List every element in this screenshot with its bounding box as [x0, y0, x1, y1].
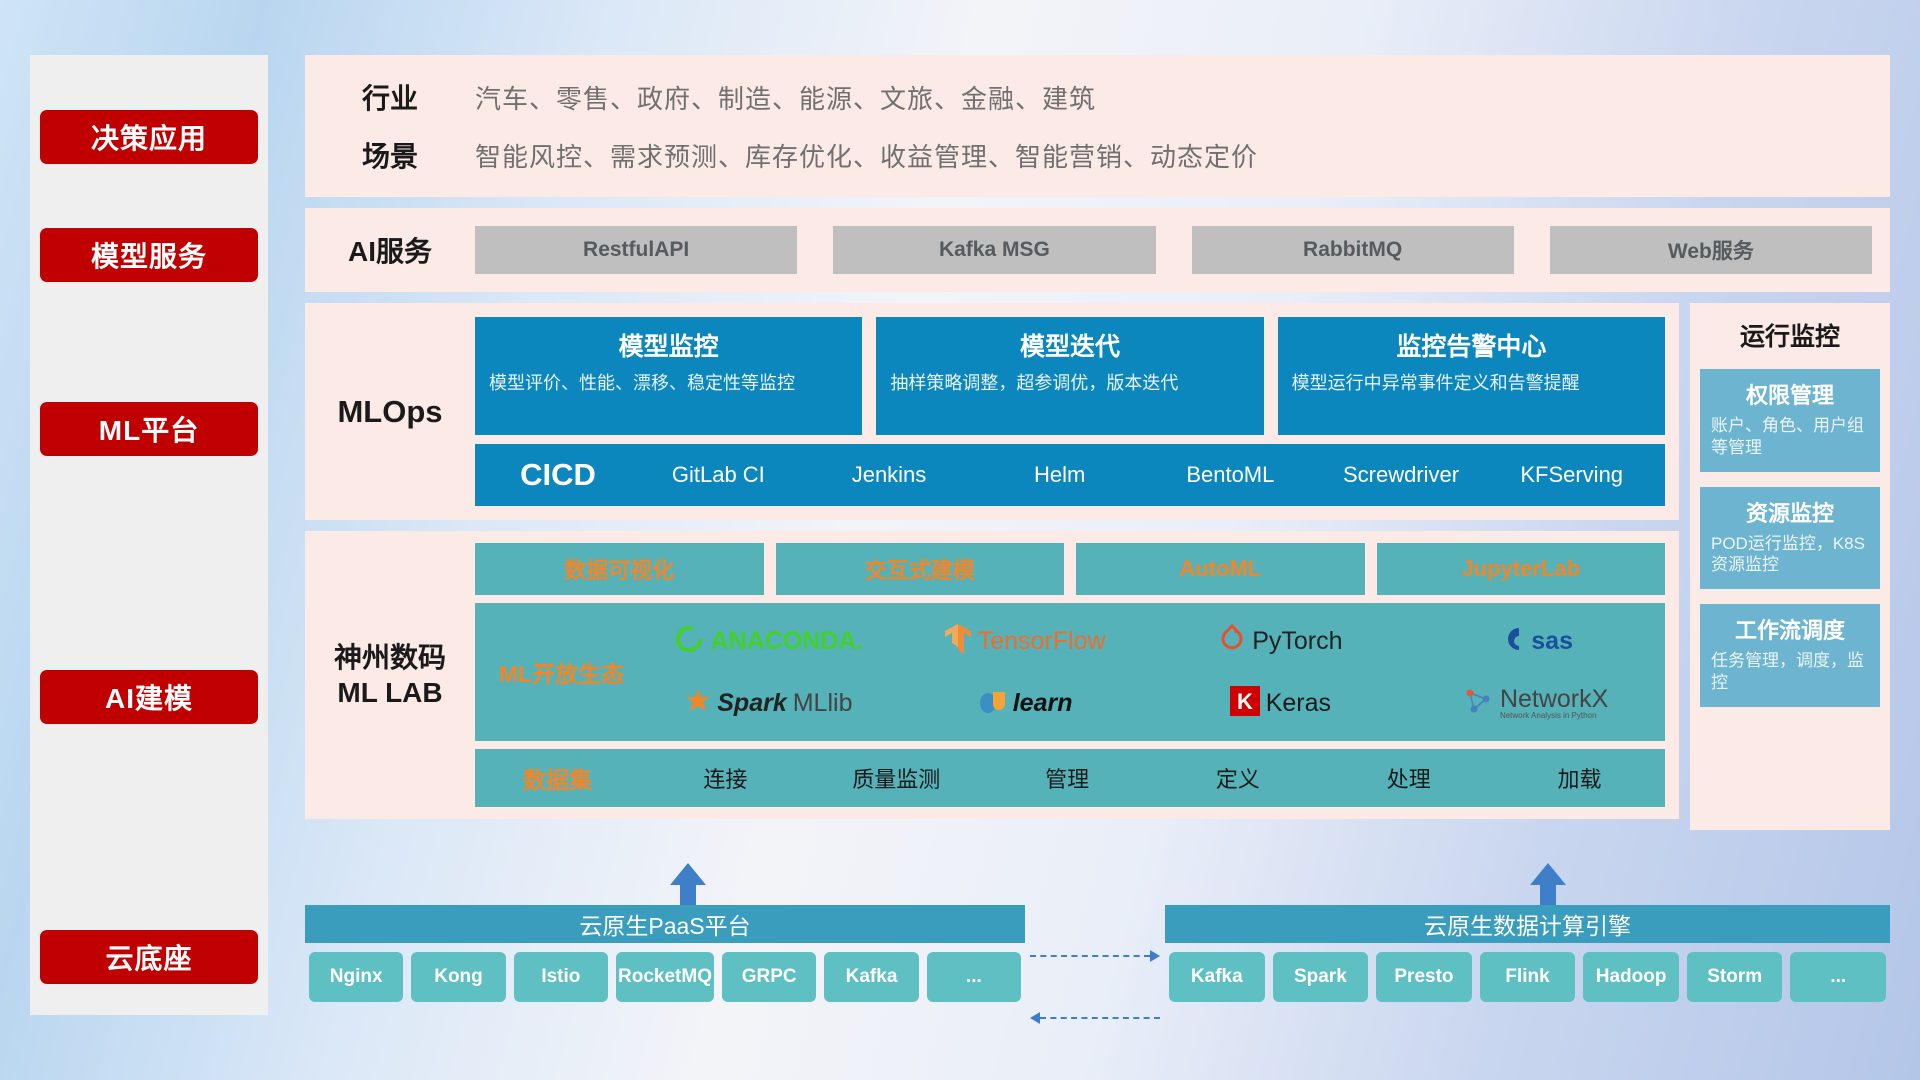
cicd-item-helm[interactable]: Helm — [974, 463, 1145, 486]
cicd-item-gitlab-ci[interactable]: GitLab CI — [633, 463, 804, 486]
arrow-up-engine — [1530, 863, 1566, 885]
data-engine-section: 云原生数据计算引擎 Kafka Spark Presto Flink Hadoo… — [1165, 905, 1890, 1002]
logo-anaconda: ANACONDA. — [644, 611, 894, 671]
logo-text: Keras — [1266, 689, 1331, 718]
logo-keras: K Keras — [1156, 673, 1406, 733]
scenario-label: 场景 — [305, 135, 475, 175]
dataset-item-connect[interactable]: 连接 — [640, 762, 811, 794]
spark-word: Spark — [717, 689, 786, 718]
engine-chips: Kafka Spark Presto Flink Hadoop Storm ..… — [1165, 943, 1890, 1002]
lab-tool-jupyterlab[interactable]: JupyterLab — [1377, 543, 1666, 595]
card-title: 监控告警中心 — [1292, 327, 1651, 363]
logo-text: NetworkX — [1500, 687, 1608, 712]
logo-spark-mllib: Spark MLlib — [644, 673, 894, 733]
lab-tool-data-visualization[interactable]: 数据可视化 — [475, 543, 764, 595]
logo-tensorflow: TensorFlow — [900, 611, 1150, 671]
card-title: 模型监控 — [489, 327, 848, 363]
cicd-item-screwdriver[interactable]: Screwdriver — [1316, 463, 1487, 486]
arrow-left — [1030, 1007, 1160, 1029]
scikit-learn-icon — [977, 686, 1007, 721]
dataset-item-load[interactable]: 加载 — [1494, 762, 1665, 794]
platform-split: MLOps 模型监控 模型评价、性能、漂移、稳定性等监控 模型迭代 抽样策略调整… — [305, 303, 1890, 830]
card-desc: 任务管理，调度，监控 — [1711, 650, 1869, 694]
ml-ecosystem-logos: ANACONDA. TensorFlow — [644, 611, 1661, 733]
service-button-web[interactable]: Web服务 — [1550, 226, 1872, 274]
paas-title: 云原生PaaS平台 — [305, 905, 1025, 943]
chip-istio[interactable]: Istio — [514, 952, 608, 1002]
mlops-card-alert-center[interactable]: 监控告警中心 模型运行中异常事件定义和告警提醒 — [1278, 317, 1665, 435]
platform-left: MLOps 模型监控 模型评价、性能、漂移、稳定性等监控 模型迭代 抽样策略调整… — [305, 303, 1679, 830]
monitor-column: 运行监控 权限管理 账户、角色、用户组等管理 资源监控 POD运行监控，K8S资… — [1690, 303, 1890, 830]
card-desc: 模型运行中异常事件定义和告警提醒 — [1292, 371, 1651, 395]
dataset-item-define[interactable]: 定义 — [1152, 762, 1323, 794]
cicd-item-bentoml[interactable]: BentoML — [1145, 463, 1316, 486]
ml-lab-content: 数据可视化 交互式建模 AutoML JupyterLab ML开放生态 — [475, 543, 1679, 807]
chip-more[interactable]: ... — [927, 952, 1021, 1002]
rail-item-cloud-base[interactable]: 云底座 — [40, 930, 258, 984]
chip-storm[interactable]: Storm — [1687, 952, 1783, 1002]
logo-scikit-learn: learn — [900, 673, 1150, 733]
cicd-item-jenkins[interactable]: Jenkins — [804, 463, 975, 486]
dataset-label: 数据集 — [475, 761, 640, 795]
sas-icon — [1499, 625, 1525, 658]
rail-item-label: 云底座 — [105, 937, 192, 977]
chip-flink[interactable]: Flink — [1480, 952, 1576, 1002]
chip-nginx[interactable]: Nginx — [309, 952, 403, 1002]
card-title: 工作流调度 — [1711, 613, 1869, 645]
chip-kafka[interactable]: Kafka — [824, 952, 918, 1002]
ai-service-buttons: RestfulAPI Kafka MSG RabbitMQ Web服务 — [475, 226, 1890, 274]
mlops-content: 模型监控 模型评价、性能、漂移、稳定性等监控 模型迭代 抽样策略调整，超参调优，… — [475, 317, 1679, 506]
chip-hadoop[interactable]: Hadoop — [1583, 952, 1679, 1002]
industry-row: 行业 汽车、零售、政府、制造、能源、文旅、金融、建筑 — [305, 77, 1890, 117]
ml-ecosystem-row: ML开放生态 ANACONDA. — [475, 603, 1665, 741]
card-desc: 抽样策略调整，超参调优，版本迭代 — [890, 371, 1249, 395]
card-desc: 模型评价、性能、漂移、稳定性等监控 — [489, 371, 848, 395]
lab-tool-automl[interactable]: AutoML — [1076, 543, 1365, 595]
lab-tool-interactive-modeling[interactable]: 交互式建模 — [776, 543, 1065, 595]
logo-pytorch: PyTorch — [1156, 611, 1406, 671]
industry-label: 行业 — [305, 77, 475, 117]
chip-kong[interactable]: Kong — [411, 952, 505, 1002]
dataset-item-quality[interactable]: 质量监测 — [811, 762, 982, 794]
engine-title: 云原生数据计算引擎 — [1165, 905, 1890, 943]
rail-item-label: AI建模 — [105, 677, 193, 717]
ml-lab-label-line1: 神州数码 — [305, 640, 475, 675]
service-button-rabbitmq[interactable]: RabbitMQ — [1192, 226, 1514, 274]
spark-icon — [685, 688, 711, 719]
mlops-card-row: 模型监控 模型评价、性能、漂移、稳定性等监控 模型迭代 抽样策略调整，超参调优，… — [475, 317, 1665, 435]
logo-sas: sas — [1411, 611, 1661, 671]
card-desc: POD运行监控，K8S资源监控 — [1711, 533, 1869, 577]
main-stack: 行业 汽车、零售、政府、制造、能源、文旅、金融、建筑 场景 智能风控、需求预测、… — [305, 55, 1890, 830]
chip-more[interactable]: ... — [1790, 952, 1886, 1002]
dataset-items: 连接 质量监测 管理 定义 处理 加载 — [640, 762, 1665, 794]
application-band: 行业 汽车、零售、政府、制造、能源、文旅、金融、建筑 场景 智能风控、需求预测、… — [305, 55, 1890, 197]
svg-text:K: K — [1237, 689, 1253, 714]
networkx-subtitle: Network Analysis in Python — [1500, 712, 1608, 720]
ai-service-band: AI服务 RestfulAPI Kafka MSG RabbitMQ Web服务 — [305, 208, 1890, 292]
card-title: 资源监控 — [1711, 496, 1869, 528]
paas-chips: Nginx Kong Istio RocketMQ GRPC Kafka ... — [305, 943, 1025, 1002]
monitor-card-permission[interactable]: 权限管理 账户、角色、用户组等管理 — [1700, 369, 1880, 472]
anaconda-icon — [674, 624, 704, 659]
card-desc: 账户、角色、用户组等管理 — [1711, 415, 1869, 459]
cicd-title: CICD — [483, 457, 633, 493]
ml-ecosystem-label: ML开放生态 — [479, 655, 644, 689]
left-rail: 决策应用 模型服务 ML平台 AI建模 云底座 — [30, 55, 268, 1015]
chip-rocketmq[interactable]: RocketMQ — [616, 952, 714, 1002]
dataset-row: 数据集 连接 质量监测 管理 定义 处理 加载 — [475, 749, 1665, 807]
chip-grpc[interactable]: GRPC — [722, 952, 816, 1002]
ai-service-label: AI服务 — [305, 230, 475, 270]
rail-item-label: ML平台 — [99, 409, 199, 449]
service-button-restfulapi[interactable]: RestfulAPI — [475, 226, 797, 274]
cicd-row: CICD GitLab CI Jenkins Helm BentoML Scre… — [475, 444, 1665, 506]
arrow-up-paas — [670, 863, 706, 885]
paas-section: 云原生PaaS平台 Nginx Kong Istio RocketMQ GRPC… — [305, 905, 1025, 1002]
rail-item-label: 模型服务 — [91, 235, 207, 275]
logo-text: ANACONDA. — [710, 627, 863, 656]
card-title: 模型迭代 — [890, 327, 1249, 363]
logo-text: TensorFlow — [978, 627, 1106, 656]
ml-lab-label: 神州数码 ML LAB — [305, 640, 475, 710]
dataset-item-process[interactable]: 处理 — [1323, 762, 1494, 794]
dataset-item-manage[interactable]: 管理 — [982, 762, 1153, 794]
mlops-band: MLOps 模型监控 模型评价、性能、漂移、稳定性等监控 模型迭代 抽样策略调整… — [305, 303, 1679, 520]
rail-item-decision-app[interactable]: 决策应用 — [40, 110, 258, 164]
logo-text: MLlib — [793, 689, 853, 718]
mlops-label: MLOps — [305, 394, 475, 430]
monitor-card-workflow[interactable]: 工作流调度 任务管理，调度，监控 — [1700, 604, 1880, 707]
logo-text: PyTorch — [1252, 627, 1342, 656]
scenario-row: 场景 智能风控、需求预测、库存优化、收益管理、智能营销、动态定价 — [305, 135, 1890, 175]
cloud-base-area: 云原生PaaS平台 Nginx Kong Istio RocketMQ GRPC… — [305, 885, 1890, 1045]
monitor-title: 运行监控 — [1700, 317, 1880, 353]
networkx-icon — [1464, 687, 1494, 720]
ml-lab-band: 神州数码 ML LAB 数据可视化 交互式建模 AutoML JupyterLa… — [305, 531, 1679, 819]
cicd-item-kfserving[interactable]: KFServing — [1486, 463, 1657, 486]
scenario-value: 智能风控、需求预测、库存优化、收益管理、智能营销、动态定价 — [475, 137, 1258, 174]
rail-item-ai-modeling[interactable]: AI建模 — [40, 670, 258, 724]
mlops-card-model-iteration[interactable]: 模型迭代 抽样策略调整，超参调优，版本迭代 — [876, 317, 1263, 435]
ml-lab-tools: 数据可视化 交互式建模 AutoML JupyterLab — [475, 543, 1665, 595]
rail-item-model-service[interactable]: 模型服务 — [40, 228, 258, 282]
logo-networkx: NetworkX Network Analysis in Python — [1411, 673, 1661, 733]
arrow-right — [1030, 945, 1160, 967]
cicd-items: GitLab CI Jenkins Helm BentoML Screwdriv… — [633, 463, 1657, 486]
bidirectional-arrows — [1030, 945, 1160, 1029]
chip-kafka[interactable]: Kafka — [1169, 952, 1265, 1002]
logo-text: learn — [1013, 689, 1073, 718]
industry-value: 汽车、零售、政府、制造、能源、文旅、金融、建筑 — [475, 79, 1096, 116]
chip-presto[interactable]: Presto — [1376, 952, 1472, 1002]
service-button-kafka-msg[interactable]: Kafka MSG — [833, 226, 1155, 274]
logo-text: sas — [1531, 627, 1573, 656]
chip-spark[interactable]: Spark — [1273, 952, 1369, 1002]
keras-icon: K — [1230, 686, 1260, 721]
pytorch-icon — [1218, 624, 1246, 659]
ml-lab-label-line2: ML LAB — [305, 675, 475, 710]
tensorflow-icon — [944, 623, 972, 660]
card-title: 权限管理 — [1711, 378, 1869, 410]
monitor-card-resource[interactable]: 资源监控 POD运行监控，K8S资源监控 — [1700, 487, 1880, 590]
mlops-card-model-monitoring[interactable]: 模型监控 模型评价、性能、漂移、稳定性等监控 — [475, 317, 862, 435]
rail-item-label: 决策应用 — [91, 117, 207, 157]
rail-item-ml-platform[interactable]: ML平台 — [40, 402, 258, 456]
